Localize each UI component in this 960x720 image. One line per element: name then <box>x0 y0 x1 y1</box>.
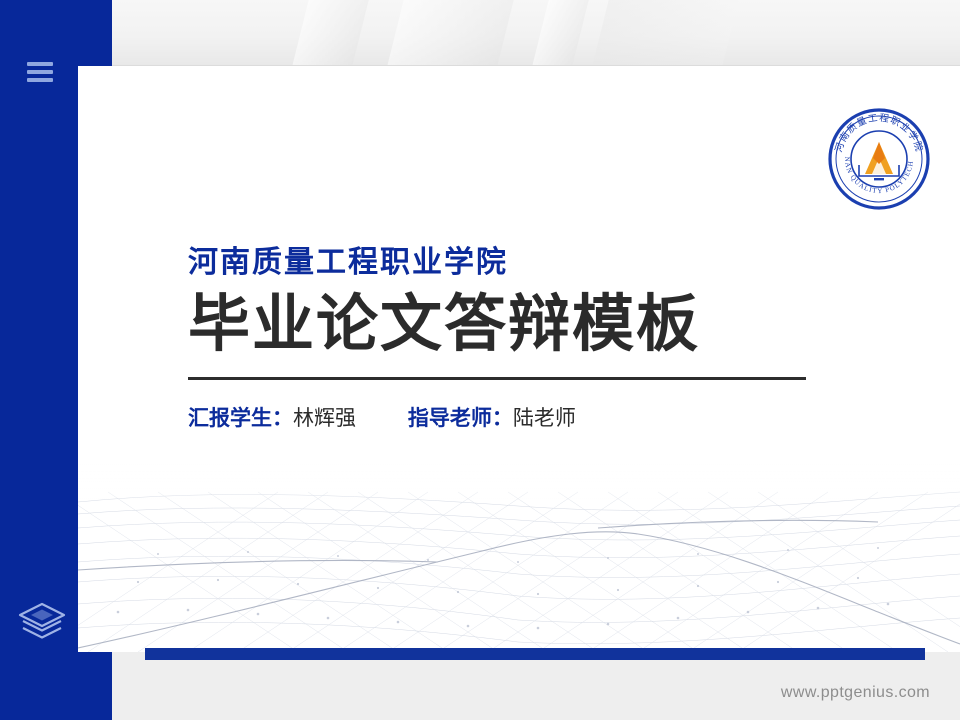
meta-advisor: 指导老师：陆老师 <box>408 402 576 432</box>
slide-content-card: 河南质量工程职业学院 HENAN QUALITY POLYTECHNIC 河南质… <box>78 66 960 652</box>
wireframe-terrain-mesh <box>78 462 960 652</box>
title-divider <box>188 377 806 380</box>
meta-advisor-value: 陆老师 <box>513 407 576 430</box>
stacked-layers-icon[interactable] <box>16 600 68 648</box>
meta-student-label: 汇报学生： <box>188 407 293 430</box>
menu-bar <box>27 70 53 74</box>
henan-quality-polytechnic-seal: 河南质量工程职业学院 HENAN QUALITY POLYTECHNIC <box>828 108 930 210</box>
presenter-meta-row: 汇报学生：林辉强 指导老师：陆老师 <box>188 402 828 432</box>
menu-bar <box>27 78 53 82</box>
meta-student-value: 林辉强 <box>293 407 356 430</box>
hamburger-menu-icon[interactable] <box>27 62 53 82</box>
meta-student: 汇报学生：林辉强 <box>188 402 356 432</box>
title-text-block: 河南质量工程职业学院 毕业论文答辩模板 汇报学生：林辉强 指导老师：陆老师 <box>188 246 828 432</box>
footer-blue-bar <box>145 648 925 660</box>
page-title: 毕业论文答辩模板 <box>188 291 828 359</box>
meta-advisor-label: 指导老师： <box>408 407 513 430</box>
menu-bar <box>27 62 53 66</box>
institution-subtitle: 河南质量工程职业学院 <box>188 246 828 281</box>
slide-backdrop-top <box>0 0 960 66</box>
presentation-slide: 河南质量工程职业学院 HENAN QUALITY POLYTECHNIC 河南质… <box>0 0 960 720</box>
watermark-url: www.pptgenius.com <box>781 684 930 702</box>
